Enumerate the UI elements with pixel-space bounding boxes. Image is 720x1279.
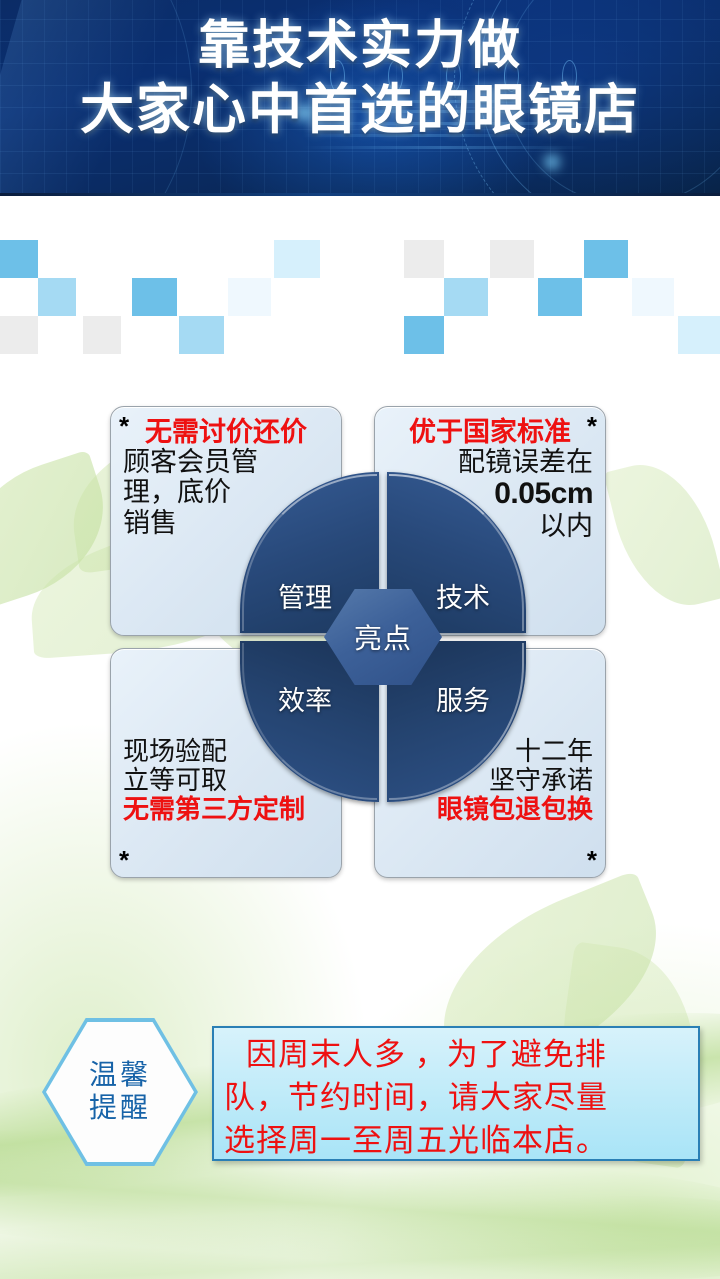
mosaic-tile: [228, 278, 271, 316]
mosaic-tile: [632, 278, 674, 316]
notice-line: 队，节约时间，请大家尽量: [224, 1077, 688, 1120]
asterisk-icon: *: [119, 413, 129, 439]
notice-badge[interactable]: 温馨 提醒: [46, 1022, 194, 1162]
title-line-2: 大家心中首选的眼镜店: [0, 80, 720, 140]
mosaic-tile: [584, 240, 628, 278]
header-glow-right-icon: [540, 150, 564, 174]
mosaic-tile: [0, 316, 38, 354]
mosaic-tile: [404, 240, 444, 278]
notice-badge-line-2: 提醒: [89, 1092, 151, 1125]
mosaic-tile: [83, 316, 121, 354]
asterisk-icon: *: [587, 413, 597, 439]
card-highlight-text: 无需讨价还价: [123, 417, 329, 447]
mosaic-tile: [404, 316, 444, 354]
header-banner: 靠技术实力做 大家心中首选的眼镜店: [0, 0, 720, 196]
notice-badge-line-1: 温馨: [89, 1059, 151, 1092]
mosaic-tile: [490, 240, 534, 278]
quadrant-label-service: 服务: [436, 679, 490, 718]
quadrant-label-technology: 技术: [436, 576, 490, 615]
mosaic-tile: [538, 278, 582, 316]
mosaic-tile: [444, 278, 488, 316]
notice-message-box: 因周末人多 ，为了避免排 队，节约时间，请大家尽量 选择周一至周五光临本店。: [212, 1026, 700, 1161]
mosaic-tile: [38, 278, 76, 316]
mosaic-tile: [274, 240, 320, 278]
title-line-1: 靠技术实力做: [198, 18, 522, 75]
asterisk-icon: *: [587, 847, 597, 873]
mosaic-tile: [678, 316, 720, 354]
notice-line: 选择周一至周五光临本店。: [224, 1120, 688, 1163]
card-highlight-text: 优于国家标准: [387, 417, 593, 447]
mosaic-tile: [179, 316, 224, 354]
poster-page: 靠技术实力做 大家心中首选的眼镜店 * 无需讨价还价 顾客会员管 理，底价 销售: [0, 0, 720, 1279]
quadrant-label-efficiency: 效率: [278, 679, 332, 718]
notice-section: 温馨 提醒 因周末人多 ，为了避免排 队，节约时间，请大家尽量 选择周一至周五光…: [0, 1010, 720, 1180]
wheel-center-label: 亮点: [354, 617, 412, 657]
header-bottom-divider: [0, 193, 720, 196]
mosaic-tile: [132, 278, 177, 316]
asterisk-icon: *: [119, 847, 129, 873]
page-title: 靠技术实力做 大家心中首选的眼镜店: [0, 18, 720, 141]
header-bar: [300, 146, 590, 149]
notice-line: 因周末人多 ，为了避免排: [224, 1034, 688, 1077]
quadrant-wheel: 管理 技术 效率 服务 亮点: [240, 472, 526, 802]
quadrant-label-management: 管理: [278, 576, 332, 615]
mosaic-decoration: [0, 200, 720, 350]
mosaic-tile: [0, 240, 38, 278]
highlights-diagram: * 无需讨价还价 顾客会员管 理，底价 销售 * 优于国家标准 配镜误差在 0.…: [0, 398, 720, 878]
